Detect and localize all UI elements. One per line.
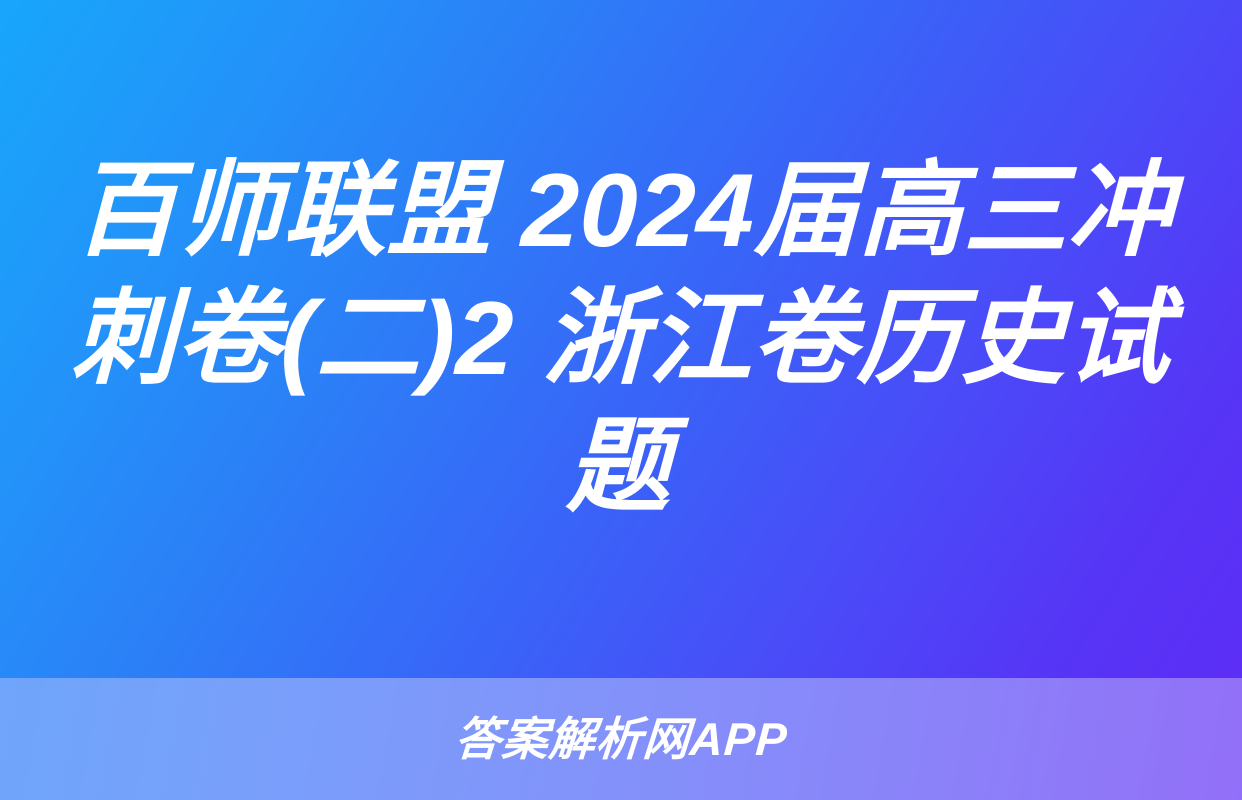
hero-gradient-panel: 百师联盟 2024届高三冲刺卷(二)2 浙江卷历史试题 xyxy=(0,0,1242,678)
hero-content: 百师联盟 2024届高三冲刺卷(二)2 浙江卷历史试题 xyxy=(61,147,1181,531)
poster-canvas: 百师联盟 2024届高三冲刺卷(二)2 浙江卷历史试题 答案解析网APP xyxy=(0,0,1242,800)
page-title: 百师联盟 2024届高三冲刺卷(二)2 浙江卷历史试题 xyxy=(58,147,1185,531)
watermark-label: 答案解析网APP xyxy=(453,713,789,765)
watermark-band: 答案解析网APP xyxy=(0,678,1242,800)
